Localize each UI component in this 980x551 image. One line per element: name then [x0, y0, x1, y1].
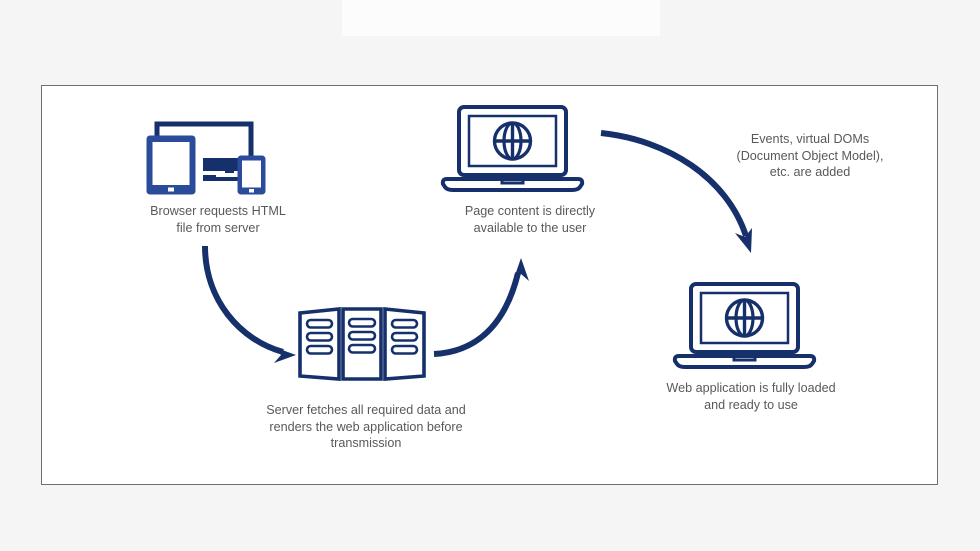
- tablet-home-button: [168, 188, 174, 192]
- server-racks-icon: [300, 309, 424, 379]
- caption-browser-requests: Browser requests HTML file from server: [108, 203, 328, 236]
- phone-screen: [242, 161, 261, 188]
- caption-events-virtual-doms: Events, virtual DOMs (Document Object Mo…: [710, 131, 910, 181]
- laptop-globe-icon-center: [443, 107, 582, 190]
- globe-icon: [495, 123, 531, 159]
- caption-web-application-loaded: Web application is fully loaded and read…: [640, 380, 862, 413]
- devices-icon: [147, 124, 265, 194]
- laptop-globe-icon-right: [675, 284, 814, 367]
- caption-server-fetches: Server fetches all required data and ren…: [245, 402, 487, 452]
- arrow-server-to-page-content: [434, 258, 529, 354]
- diagram-canvas: [0, 0, 980, 551]
- tablet-screen: [153, 142, 190, 185]
- globe-icon-right: [727, 300, 763, 336]
- arrow-browser-to-server: [205, 246, 296, 363]
- caption-page-content: Page content is directly available to th…: [420, 203, 640, 236]
- phone-home-button: [249, 189, 254, 193]
